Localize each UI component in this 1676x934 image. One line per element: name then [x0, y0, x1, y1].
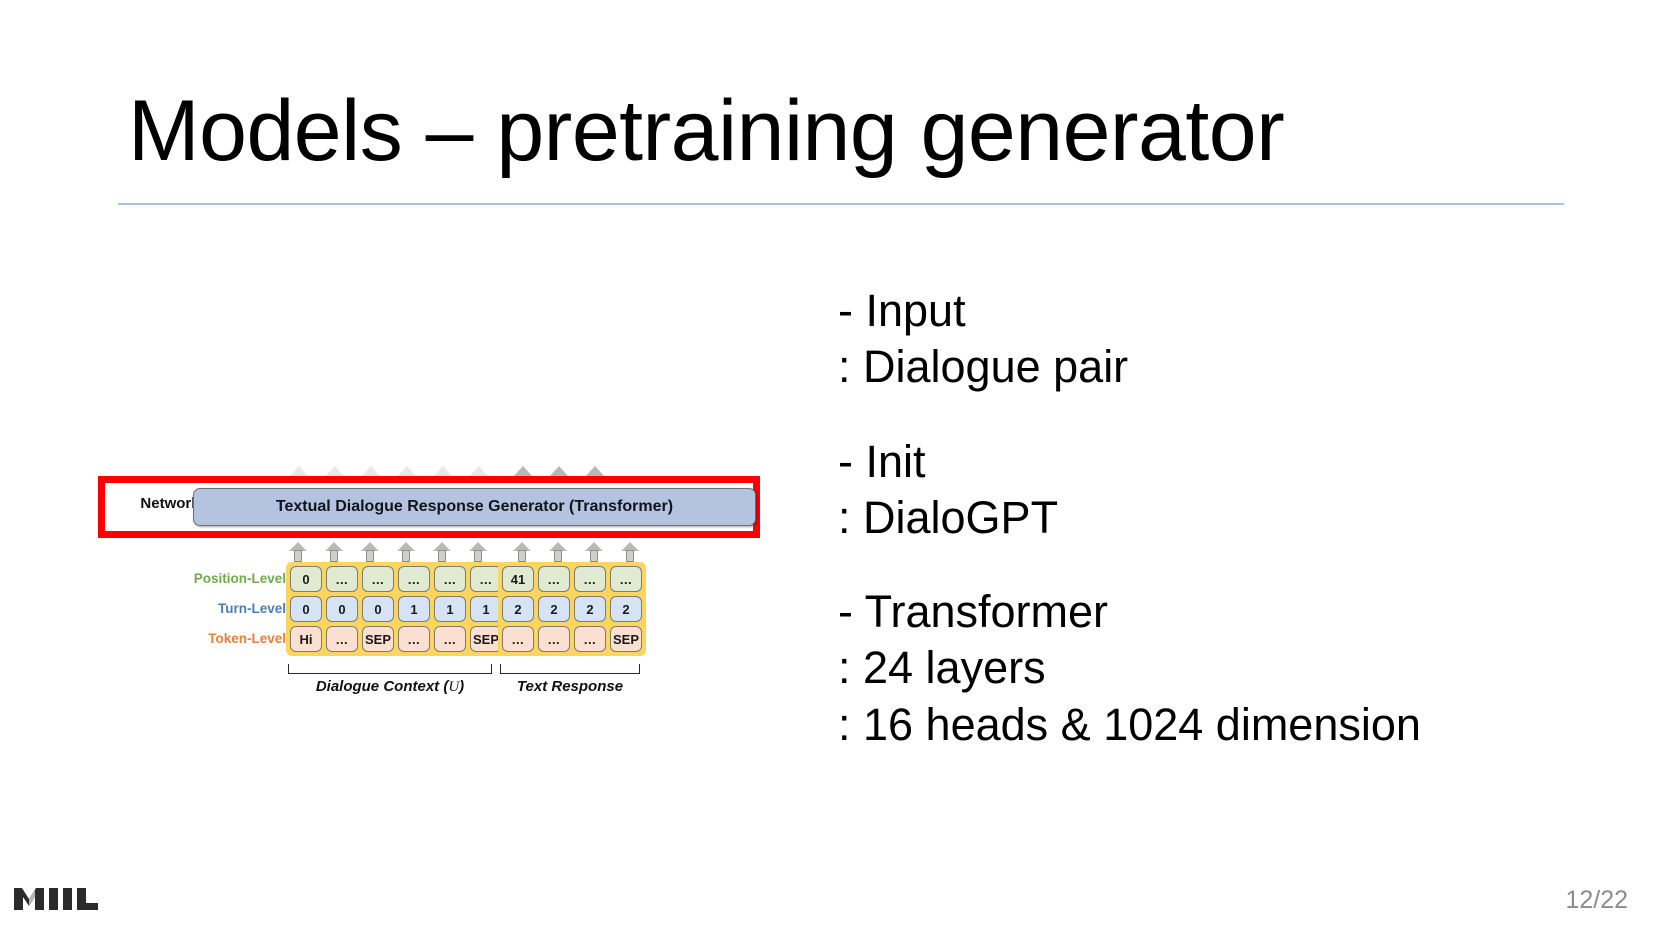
embedding-cell: 0 — [290, 566, 322, 592]
page-number: 12/22 — [1565, 886, 1628, 915]
context-brace — [288, 664, 492, 674]
input-arrow-icon — [361, 542, 379, 562]
title-divider — [118, 203, 1564, 205]
context-position-row: 0............... — [290, 566, 502, 592]
embedding-cell: 0 — [326, 596, 358, 622]
embedding-cell: ... — [434, 626, 466, 652]
input-arrow-icon — [325, 542, 343, 562]
input-arrow-row — [289, 542, 639, 564]
label-position-level: Position-Level — [166, 571, 286, 586]
embedding-cell: ... — [326, 566, 358, 592]
embedding-cell: 1 — [398, 596, 430, 622]
slide-canvas: Models – pretraining generator - Input :… — [0, 0, 1676, 934]
page-title: Models – pretraining generator — [128, 86, 1528, 176]
input-arrow-icon — [513, 542, 531, 562]
embedding-cell: ... — [398, 626, 430, 652]
bullet-detail-heads: : 16 heads & 1024 dimension — [838, 697, 1638, 753]
embedding-cell: ... — [538, 626, 570, 652]
embedding-cell: 0 — [362, 596, 394, 622]
embedding-cell: ... — [362, 566, 394, 592]
embedding-cell: SEP — [610, 626, 642, 652]
bullet-list: - Input : Dialogue pair - Init : DialoGP… — [838, 283, 1638, 753]
embedding-cell: ... — [502, 626, 534, 652]
input-arrow-icon — [549, 542, 567, 562]
bullet-head-input: - Input — [838, 283, 1638, 339]
embedding-cell: ... — [398, 566, 430, 592]
bullet-block-input: - Input : Dialogue pair — [838, 283, 1638, 396]
context-caption: Dialogue Context (U) — [288, 678, 492, 696]
bullet-detail-input: : Dialogue pair — [838, 339, 1638, 395]
context-caption-variable: U — [448, 679, 459, 695]
input-arrow-icon — [397, 542, 415, 562]
context-caption-text: Dialogue Context ( — [316, 678, 449, 695]
embedding-cell: 1 — [434, 596, 466, 622]
architecture-diagram: Network Textual Dialogue Response Genera… — [96, 462, 796, 722]
embedding-cell: 0 — [290, 596, 322, 622]
embedding-cell: 2 — [610, 596, 642, 622]
bullet-block-init: - Init : DialoGPT — [838, 434, 1638, 547]
embedding-cell: SEP — [362, 626, 394, 652]
response-caption: Text Response — [500, 678, 640, 695]
input-arrow-icon — [585, 542, 603, 562]
dialogue-context-embedding-grid: 0...............000111Hi...SEP......SEP — [286, 562, 506, 656]
embedding-cell: ... — [574, 566, 606, 592]
input-arrow-icon — [469, 542, 487, 562]
embedding-cell: 2 — [574, 596, 606, 622]
response-position-row: 41......... — [502, 566, 642, 592]
context-caption-close: ) — [459, 678, 464, 695]
input-arrow-icon — [621, 542, 639, 562]
bullet-head-init: - Init — [838, 434, 1638, 490]
bullet-head-transformer: - Transformer — [838, 584, 1638, 640]
text-response-embedding-grid: 41.........2222.........SEP — [498, 562, 646, 656]
input-arrow-icon — [289, 542, 307, 562]
embedding-cell: ... — [538, 566, 570, 592]
label-turn-level: Turn-Level — [166, 601, 286, 616]
context-turn-row: 000111 — [290, 596, 502, 622]
embedding-cell: 2 — [538, 596, 570, 622]
bullet-detail-layers: : 24 layers — [838, 640, 1638, 696]
response-token-row: .........SEP — [502, 626, 642, 652]
input-arrow-icon — [433, 542, 451, 562]
embedding-cell: ... — [326, 626, 358, 652]
label-token-level: Token-Level — [166, 631, 286, 646]
transformer-block: Textual Dialogue Response Generator (Tra… — [193, 488, 756, 526]
response-brace — [500, 664, 640, 674]
embedding-cell: 2 — [502, 596, 534, 622]
bullet-detail-init: : DialoGPT — [838, 490, 1638, 546]
embedding-cell: ... — [574, 626, 606, 652]
embedding-cell: Hi — [290, 626, 322, 652]
bullet-block-transformer: - Transformer : 24 layers : 16 heads & 1… — [838, 584, 1638, 753]
embedding-cell: ... — [610, 566, 642, 592]
response-turn-row: 2222 — [502, 596, 642, 622]
context-token-row: Hi...SEP......SEP — [290, 626, 502, 652]
embedding-cell: 41 — [502, 566, 534, 592]
embedding-cell: ... — [434, 566, 466, 592]
mil-logo — [12, 884, 104, 914]
